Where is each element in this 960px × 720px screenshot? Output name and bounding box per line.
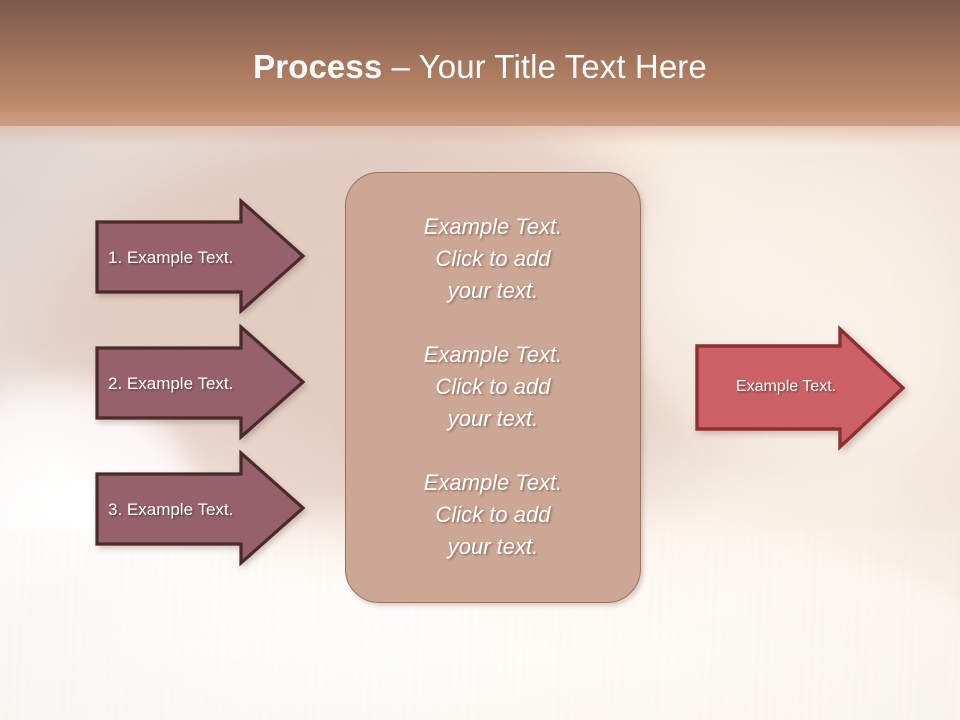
center-content-box[interactable]: Example Text. Click to add your text. Ex… bbox=[345, 172, 641, 603]
center-text-block-2: Example Text. Click to add your text. bbox=[346, 339, 640, 435]
left-arrow-2-label: 2. Example Text. bbox=[108, 348, 248, 418]
title-strong: Process bbox=[253, 48, 382, 85]
center-text-block-1: Example Text. Click to add your text. bbox=[346, 211, 640, 307]
title-rest: – Your Title Text Here bbox=[382, 48, 707, 85]
left-arrow-3-label: 3. Example Text. bbox=[108, 474, 248, 544]
title-band-fade bbox=[0, 112, 960, 146]
center-text-block-3: Example Text. Click to add your text. bbox=[346, 467, 640, 563]
center-content-box-inner: Example Text. Click to add your text. Ex… bbox=[346, 173, 640, 602]
left-arrow-1-label: 1. Example Text. bbox=[108, 222, 248, 292]
slide: Process – Your Title Text Here 1. Exampl… bbox=[0, 0, 960, 720]
right-arrow-label: Example Text. bbox=[706, 352, 866, 420]
page-title: Process – Your Title Text Here bbox=[0, 47, 960, 87]
